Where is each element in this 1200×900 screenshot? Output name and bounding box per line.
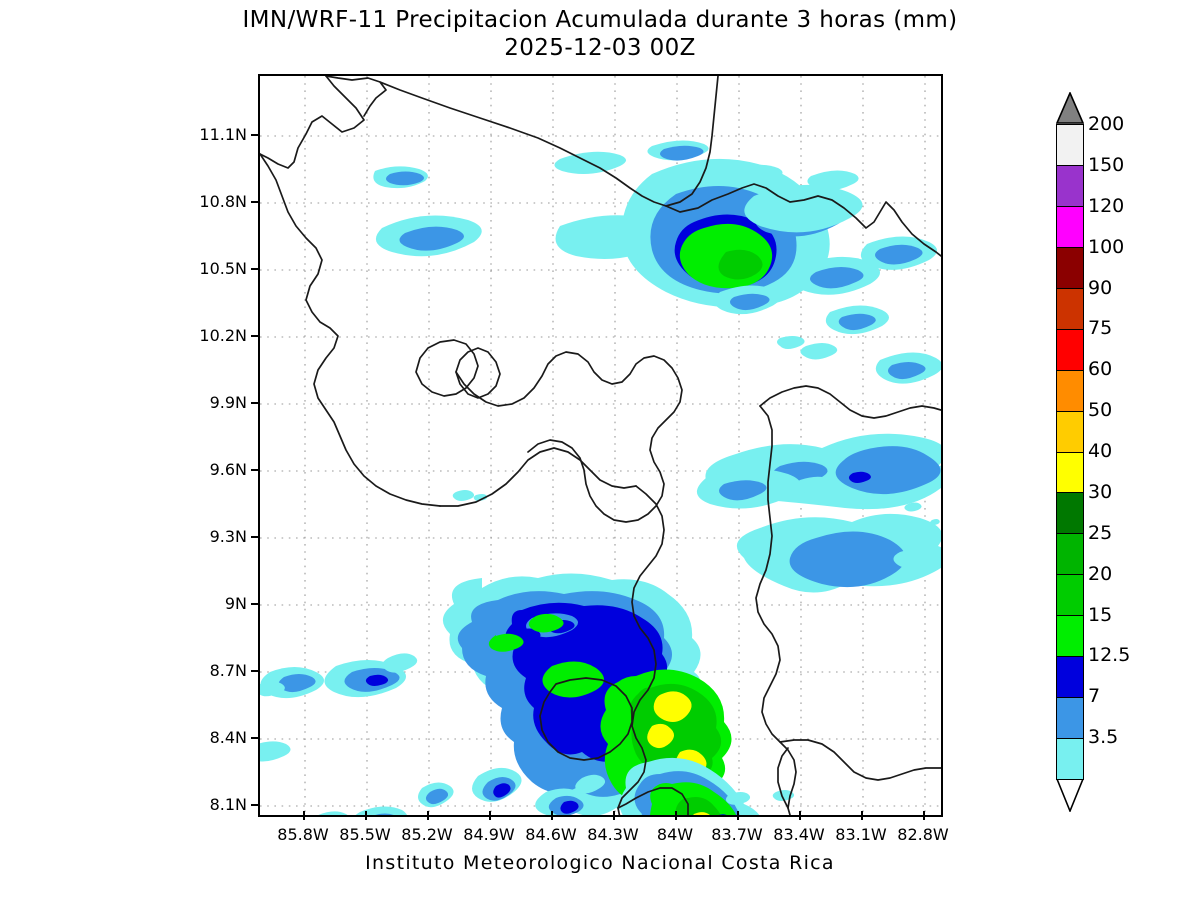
precip-southwest-scatter bbox=[309, 768, 521, 815]
colorbar-cell bbox=[1056, 206, 1084, 248]
x-axis-label: 84.6W bbox=[516, 825, 586, 844]
colorbar-tick-label: 200 bbox=[1088, 113, 1124, 135]
x-tick bbox=[613, 811, 615, 820]
y-axis-label: 8.1N bbox=[183, 795, 247, 814]
y-tick bbox=[251, 737, 260, 739]
x-tick bbox=[489, 811, 491, 820]
precipitation-map bbox=[260, 76, 941, 815]
x-axis-label: 84.3W bbox=[578, 825, 648, 844]
colorbar-tick-label: 100 bbox=[1088, 236, 1124, 258]
colorbar-tick-label: 3.5 bbox=[1088, 726, 1118, 748]
y-axis-label: 9N bbox=[183, 594, 247, 613]
y-tick bbox=[251, 536, 260, 538]
colorbar-tick-label: 20 bbox=[1088, 563, 1112, 585]
colorbar-cell bbox=[1056, 655, 1084, 697]
colorbar-tick-label: 15 bbox=[1088, 604, 1112, 626]
y-axis-label: 11.1N bbox=[183, 125, 247, 144]
x-tick bbox=[303, 811, 305, 820]
precip-nw-cell bbox=[376, 216, 482, 257]
chart-subtitle: 2025-12-03 00Z bbox=[0, 34, 1200, 62]
precipitation-contours bbox=[260, 140, 941, 815]
y-tick bbox=[251, 134, 260, 136]
x-axis-label: 84W bbox=[640, 825, 710, 844]
x-tick bbox=[365, 811, 367, 820]
colorbar-cell bbox=[1056, 328, 1084, 370]
page-title: IMN/WRF-11 Precipitacion Acumulada duran… bbox=[0, 6, 1200, 34]
x-tick bbox=[675, 811, 677, 820]
colorbar-cell bbox=[1056, 737, 1084, 779]
x-tick bbox=[861, 811, 863, 820]
y-tick bbox=[251, 335, 260, 337]
x-axis-label: 83.1W bbox=[826, 825, 896, 844]
x-axis-label: 83.4W bbox=[764, 825, 834, 844]
x-axis-label: 83.7W bbox=[702, 825, 772, 844]
x-tick bbox=[427, 811, 429, 820]
colorbar-tick-label: 30 bbox=[1088, 481, 1112, 503]
precip-caribbean-midband bbox=[737, 514, 941, 593]
colorbar-cell bbox=[1056, 574, 1084, 616]
x-axis-label: 85.2W bbox=[392, 825, 462, 844]
colorbar-over-arrow bbox=[1056, 92, 1084, 124]
map-plot-area bbox=[258, 74, 943, 817]
y-axis-label: 9.3N bbox=[183, 527, 247, 546]
y-tick bbox=[251, 469, 260, 471]
y-axis-label: 10.5N bbox=[183, 259, 247, 278]
colorbar-cell bbox=[1056, 288, 1084, 330]
colorbar-legend: 3.5712.5152025304050607590100120150200 bbox=[1056, 92, 1084, 810]
colorbar-tick-label: 25 bbox=[1088, 522, 1112, 544]
colorbar-tick-label: 120 bbox=[1088, 195, 1124, 217]
colorbar-tick-label: 50 bbox=[1088, 399, 1112, 421]
x-tick bbox=[737, 811, 739, 820]
y-tick bbox=[251, 670, 260, 672]
precip-west-isolated bbox=[260, 653, 417, 815]
y-tick bbox=[251, 402, 260, 404]
colorbar-tick-label: 90 bbox=[1088, 277, 1112, 299]
colorbar-tick-label: 150 bbox=[1088, 154, 1124, 176]
x-tick bbox=[799, 811, 801, 820]
colorbar-tick-label: 60 bbox=[1088, 358, 1112, 380]
colorbar-cell bbox=[1056, 247, 1084, 289]
x-axis-label: 82.8W bbox=[888, 825, 958, 844]
colorbar-tick-label: 75 bbox=[1088, 317, 1112, 339]
colorbar-cell bbox=[1056, 696, 1084, 738]
x-axis-label: 85.8W bbox=[268, 825, 338, 844]
y-tick bbox=[251, 804, 260, 806]
y-tick bbox=[251, 201, 260, 203]
colorbar-cell bbox=[1056, 615, 1084, 657]
colorbar-tick-label: 40 bbox=[1088, 440, 1112, 462]
x-axis-label: 84.9W bbox=[454, 825, 524, 844]
y-axis-label: 9.9N bbox=[183, 393, 247, 412]
x-axis-label: 85.5W bbox=[330, 825, 400, 844]
chart-title-block: IMN/WRF-11 Precipitacion Acumulada duran… bbox=[0, 6, 1200, 62]
colorbar-cell bbox=[1056, 369, 1084, 411]
colorbar-under-arrow bbox=[1056, 778, 1084, 812]
colorbar-cell bbox=[1056, 492, 1084, 534]
colorbar-cell bbox=[1056, 124, 1084, 166]
colorbar-cell bbox=[1056, 533, 1084, 575]
y-tick bbox=[251, 603, 260, 605]
y-tick bbox=[251, 268, 260, 270]
precip-caribbean-offshore bbox=[697, 434, 941, 509]
attribution-footer: Instituto Meteorologico Nacional Costa R… bbox=[0, 852, 1200, 874]
y-axis-label: 10.8N bbox=[183, 192, 247, 211]
y-axis-label: 10.2N bbox=[183, 326, 247, 345]
colorbar-cell bbox=[1056, 451, 1084, 493]
colorbar-cell bbox=[1056, 165, 1084, 207]
x-tick bbox=[923, 811, 925, 820]
colorbar-cell bbox=[1056, 410, 1084, 452]
y-axis-label: 8.4N bbox=[183, 728, 247, 747]
y-axis-label: 9.6N bbox=[183, 460, 247, 479]
precip-bottom-smears bbox=[726, 790, 794, 805]
colorbar-tick-label: 7 bbox=[1088, 685, 1100, 707]
y-axis-label: 8.7N bbox=[183, 661, 247, 680]
colorbar-tick-label: 12.5 bbox=[1088, 644, 1130, 666]
x-tick bbox=[551, 811, 553, 820]
